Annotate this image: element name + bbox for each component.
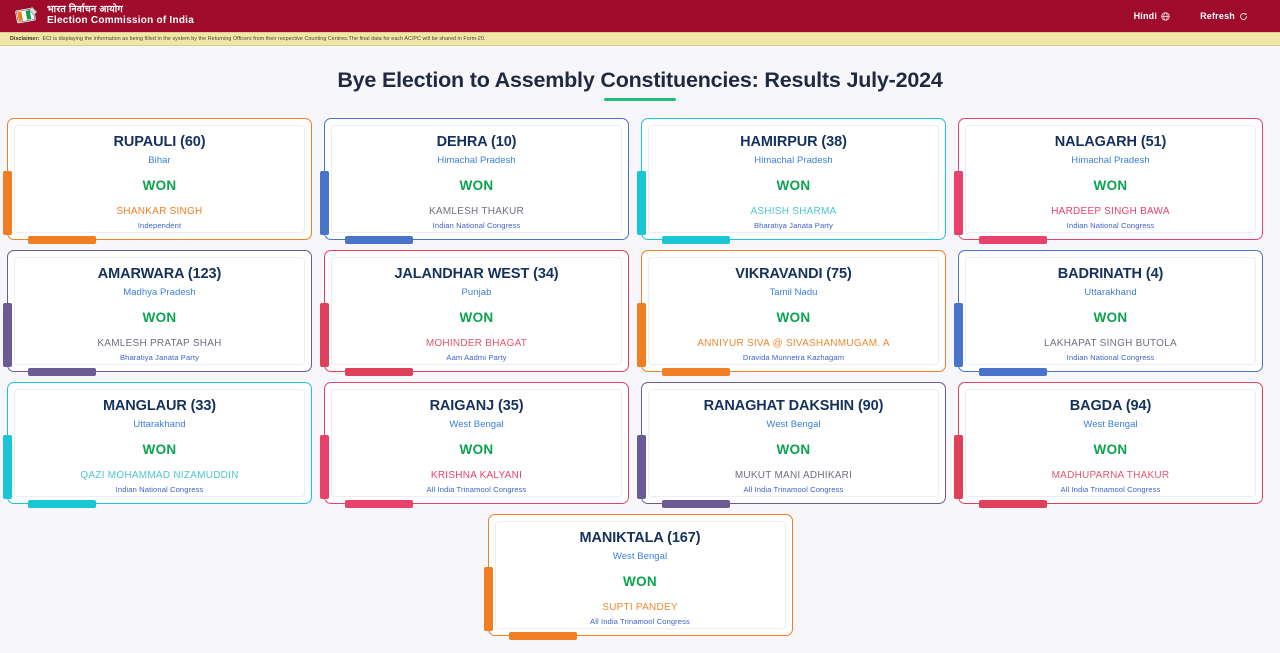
result-card-inner: AMARWARA (123)Madhya PradeshWONKAMLESH P… (14, 257, 305, 365)
status-badge: WON (25, 310, 294, 325)
result-card[interactable]: MANIKTALA (167)West BengalWONSUPTI PANDE… (488, 514, 793, 636)
candidate-name: HARDEEP SINGH BAWA (976, 206, 1245, 217)
result-card[interactable]: RANAGHAT DAKSHIN (90)West BengalWONMUKUT… (641, 382, 946, 504)
constituency-name: NALAGARH (51) (976, 135, 1245, 151)
state-name: Punjab (342, 287, 611, 298)
language-label: Hindi (1134, 11, 1158, 21)
result-card[interactable]: BAGDA (94)West BengalWONMADHUPARNA THAKU… (958, 382, 1263, 504)
constituency-name: MANIKTALA (167) (506, 531, 775, 547)
status-badge: WON (976, 442, 1245, 457)
accent-bar-left (954, 303, 963, 367)
accent-bar-left (484, 567, 493, 631)
candidate-name: MADHUPARNA THAKUR (976, 470, 1245, 481)
status-badge: WON (342, 178, 611, 193)
party-name: All India Trinamool Congress (506, 617, 775, 626)
header-actions: Hindi Refresh (1134, 11, 1266, 21)
refresh-label: Refresh (1200, 11, 1235, 21)
constituency-name: RAIGANJ (35) (342, 399, 611, 415)
party-name: Bharatiya Janata Party (659, 221, 928, 230)
language-toggle[interactable]: Hindi (1134, 11, 1171, 21)
result-card[interactable]: JALANDHAR WEST (34)PunjabWONMOHINDER BHA… (324, 250, 629, 372)
state-name: West Bengal (976, 419, 1245, 430)
party-name: Indian National Congress (976, 221, 1245, 230)
accent-bar-bottom (662, 236, 730, 244)
result-card-inner: BADRINATH (4)UttarakhandWONLAKHAPAT SING… (965, 257, 1256, 365)
accent-bar-bottom (509, 632, 577, 640)
accent-bar-bottom (979, 500, 1047, 508)
result-card-inner: NALAGARH (51)Himachal PradeshWONHARDEEP … (965, 125, 1256, 233)
brand: भारत निर्वाचन आयोग Election Commission o… (14, 5, 194, 27)
party-name: Aam Aadmi Party (342, 353, 611, 362)
result-card-inner: BAGDA (94)West BengalWONMADHUPARNA THAKU… (965, 389, 1256, 497)
constituency-name: AMARWARA (123) (25, 267, 294, 283)
accent-bar-left (637, 435, 646, 499)
result-card[interactable]: MANGLAUR (33)UttarakhandWONQAZI MOHAMMAD… (7, 382, 312, 504)
globe-icon (1161, 12, 1170, 21)
constituency-name: BADRINATH (4) (976, 267, 1245, 283)
accent-bar-left (954, 171, 963, 235)
disclaimer-text: ECI is displaying the information as bei… (42, 36, 485, 42)
constituency-name: JALANDHAR WEST (34) (342, 267, 611, 283)
constituency-name: RANAGHAT DAKSHIN (90) (659, 399, 928, 415)
state-name: Uttarakhand (25, 419, 294, 430)
result-card[interactable]: RUPAULI (60)BiharWONSHANKAR SINGHIndepen… (7, 118, 312, 240)
accent-bar-bottom (345, 236, 413, 244)
accent-bar-left (637, 171, 646, 235)
accent-bar-left (3, 171, 12, 235)
accent-bar-bottom (662, 368, 730, 376)
refresh-icon (1239, 12, 1248, 21)
state-name: West Bengal (342, 419, 611, 430)
accent-bar-left (637, 303, 646, 367)
accent-bar-left (3, 303, 12, 367)
result-card-inner: DEHRA (10)Himachal PradeshWONKAMLESH THA… (331, 125, 622, 233)
result-card[interactable]: NALAGARH (51)Himachal PradeshWONHARDEEP … (958, 118, 1263, 240)
state-name: West Bengal (659, 419, 928, 430)
party-name: All India Trinamool Congress (976, 485, 1245, 494)
candidate-name: MOHINDER BHAGAT (342, 338, 611, 349)
party-name: Bharatiya Janata Party (25, 353, 294, 362)
result-card-inner: RUPAULI (60)BiharWONSHANKAR SINGHIndepen… (14, 125, 305, 233)
accent-bar-bottom (345, 500, 413, 508)
party-name: Indian National Congress (976, 353, 1245, 362)
accent-bar-left (320, 303, 329, 367)
candidate-name: KAMLESH THAKUR (342, 206, 611, 217)
accent-bar-bottom (979, 236, 1047, 244)
brand-title-english: Election Commission of India (47, 16, 194, 27)
state-name: Himachal Pradesh (659, 155, 928, 166)
state-name: Bihar (25, 155, 294, 166)
result-card-inner: MANGLAUR (33)UttarakhandWONQAZI MOHAMMAD… (14, 389, 305, 497)
result-card-inner: MANIKTALA (167)West BengalWONSUPTI PANDE… (495, 521, 786, 629)
party-name: All India Trinamool Congress (659, 485, 928, 494)
disclaimer-bar: Disclaimer: ECI is displaying the inform… (0, 32, 1280, 46)
status-badge: WON (25, 442, 294, 457)
status-badge: WON (25, 178, 294, 193)
state-name: Madhya Pradesh (25, 287, 294, 298)
status-badge: WON (506, 574, 775, 589)
result-card-inner: JALANDHAR WEST (34)PunjabWONMOHINDER BHA… (331, 257, 622, 365)
result-card[interactable]: HAMIRPUR (38)Himachal PradeshWONASHISH S… (641, 118, 946, 240)
constituency-name: DEHRA (10) (342, 135, 611, 151)
result-card[interactable]: DEHRA (10)Himachal PradeshWONKAMLESH THA… (324, 118, 629, 240)
state-name: West Bengal (506, 551, 775, 562)
accent-bar-bottom (28, 236, 96, 244)
results-row-last: MANIKTALA (167)West BengalWONSUPTI PANDE… (7, 514, 1273, 636)
accent-bar-bottom (28, 500, 96, 508)
results-grid: RUPAULI (60)BiharWONSHANKAR SINGHIndepen… (0, 101, 1280, 636)
result-card[interactable]: RAIGANJ (35)West BengalWONKRISHNA KALYAN… (324, 382, 629, 504)
brand-text: भारत निर्वाचन आयोग Election Commission o… (47, 5, 194, 26)
constituency-name: RUPAULI (60) (25, 135, 294, 151)
refresh-button[interactable]: Refresh (1200, 11, 1248, 21)
page-title-block: Bye Election to Assembly Constituencies:… (0, 46, 1280, 101)
accent-bar-bottom (979, 368, 1047, 376)
state-name: Uttarakhand (976, 287, 1245, 298)
eci-emblem-icon (14, 5, 40, 27)
candidate-name: LAKHAPAT SINGH BUTOLA (976, 338, 1245, 349)
accent-bar-bottom (345, 368, 413, 376)
constituency-name: BAGDA (94) (976, 399, 1245, 415)
status-badge: WON (976, 310, 1245, 325)
constituency-name: VIKRAVANDI (75) (659, 267, 928, 283)
candidate-name: SUPTI PANDEY (506, 602, 775, 613)
party-name: Dravida Munnetra Kazhagam (659, 353, 928, 362)
result-card-inner: HAMIRPUR (38)Himachal PradeshWONASHISH S… (648, 125, 939, 233)
status-badge: WON (659, 442, 928, 457)
app-header: भारत निर्वाचन आयोग Election Commission o… (0, 0, 1280, 32)
status-badge: WON (659, 178, 928, 193)
candidate-name: MUKUT MANI ADHIKARI (659, 470, 928, 481)
result-card[interactable]: BADRINATH (4)UttarakhandWONLAKHAPAT SING… (958, 250, 1263, 372)
party-name: Indian National Congress (342, 221, 611, 230)
accent-bar-left (320, 171, 329, 235)
status-badge: WON (976, 178, 1245, 193)
candidate-name: KRISHNA KALYANI (342, 470, 611, 481)
result-card-inner: RANAGHAT DAKSHIN (90)West BengalWONMUKUT… (648, 389, 939, 497)
status-badge: WON (659, 310, 928, 325)
result-card[interactable]: VIKRAVANDI (75)Tamil NaduWONANNIYUR SIVA… (641, 250, 946, 372)
accent-bar-left (320, 435, 329, 499)
accent-bar-bottom (662, 500, 730, 508)
candidate-name: KAMLESH PRATAP SHAH (25, 338, 294, 349)
result-card[interactable]: AMARWARA (123)Madhya PradeshWONKAMLESH P… (7, 250, 312, 372)
status-badge: WON (342, 310, 611, 325)
party-name: Independent (25, 221, 294, 230)
result-card-inner: VIKRAVANDI (75)Tamil NaduWONANNIYUR SIVA… (648, 257, 939, 365)
state-name: Himachal Pradesh (976, 155, 1245, 166)
candidate-name: ANNIYUR SIVA @ SIVASHANMUGAM. A (659, 338, 928, 349)
candidate-name: SHANKAR SINGH (25, 206, 294, 217)
constituency-name: MANGLAUR (33) (25, 399, 294, 415)
status-badge: WON (342, 442, 611, 457)
page-title: Bye Election to Assembly Constituencies:… (0, 68, 1280, 93)
candidate-name: QAZI MOHAMMAD NIZAMUDDIN (25, 470, 294, 481)
accent-bar-left (954, 435, 963, 499)
accent-bar-left (3, 435, 12, 499)
candidate-name: ASHISH SHARMA (659, 206, 928, 217)
accent-bar-bottom (28, 368, 96, 376)
party-name: Indian National Congress (25, 485, 294, 494)
result-card-inner: RAIGANJ (35)West BengalWONKRISHNA KALYAN… (331, 389, 622, 497)
state-name: Tamil Nadu (659, 287, 928, 298)
disclaimer-label: Disclaimer: (10, 36, 39, 42)
party-name: All India Trinamool Congress (342, 485, 611, 494)
constituency-name: HAMIRPUR (38) (659, 135, 928, 151)
state-name: Himachal Pradesh (342, 155, 611, 166)
